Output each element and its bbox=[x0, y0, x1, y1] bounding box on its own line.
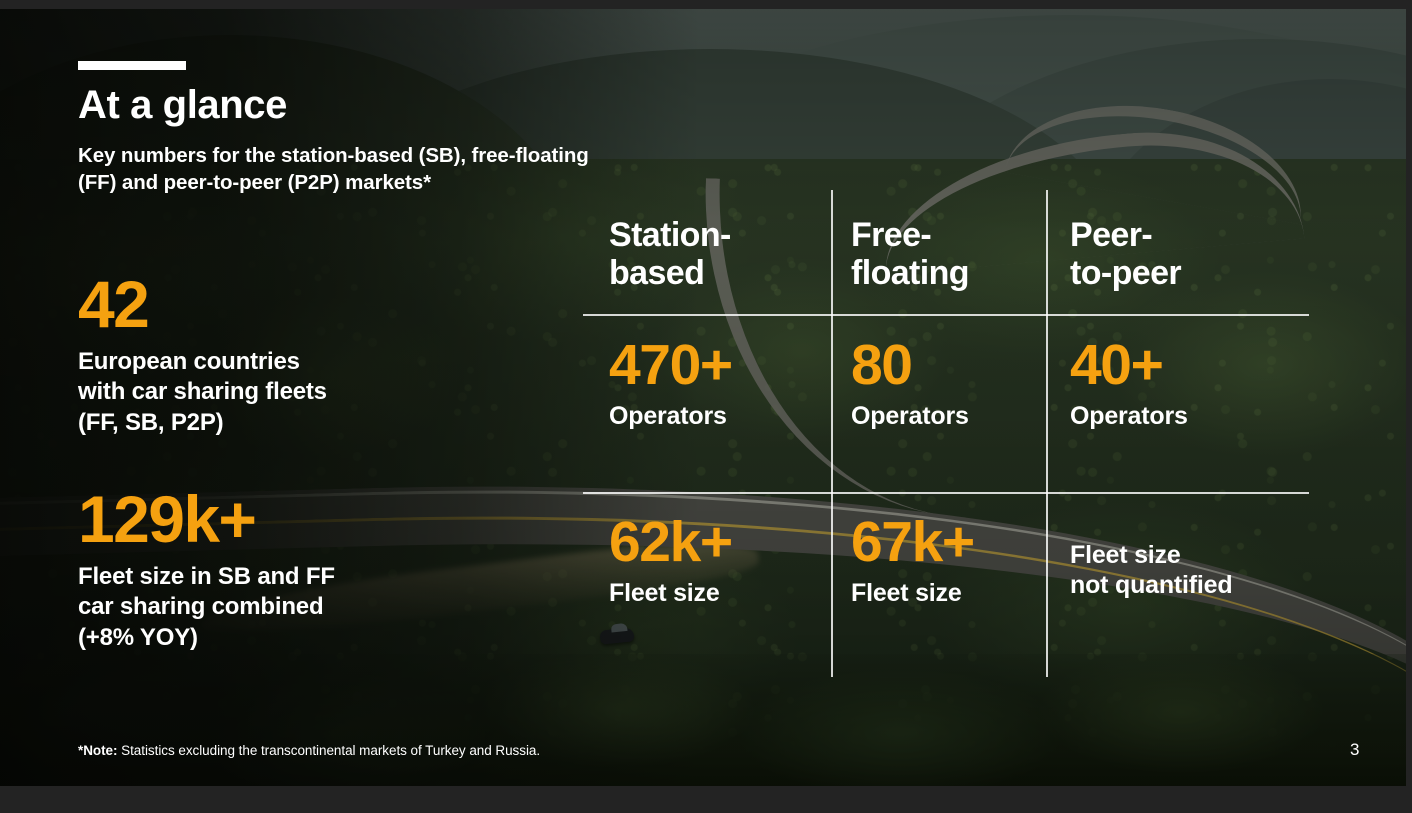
highlight-description: Fleet size in SB and FFcar sharing combi… bbox=[78, 562, 335, 653]
matrix-cell-label: Operators bbox=[1070, 401, 1188, 431]
matrix-cell-fleet-free-floating: 67k+ Fleet size bbox=[851, 515, 974, 608]
slide-content: At a glance Key numbers for the station-… bbox=[0, 0, 1412, 813]
matrix-cell-label: Fleet size bbox=[609, 578, 732, 608]
matrix-cell-operators-peer-to-peer: 40+ Operators bbox=[1070, 338, 1188, 431]
matrix-cell-label: Operators bbox=[609, 401, 732, 431]
matrix-cell-label: Fleet size bbox=[851, 578, 974, 608]
matrix-cell-value: 67k+ bbox=[851, 515, 974, 570]
matrix-column-header-peer-to-peer: Peer-to-peer bbox=[1070, 216, 1181, 292]
matrix-cell-fleet-station-based: 62k+ Fleet size bbox=[609, 515, 732, 608]
highlight-description: European countrieswith car sharing fleet… bbox=[78, 347, 327, 438]
footnote-label: *Note: bbox=[78, 743, 117, 758]
matrix-cell-value: 62k+ bbox=[609, 515, 732, 570]
matrix-divider-horizontal bbox=[583, 314, 1309, 316]
matrix-divider-vertical bbox=[831, 190, 833, 677]
highlight-value: 129k+ bbox=[78, 487, 335, 552]
matrix-cell-fleet-peer-to-peer: Fleet sizenot quantified bbox=[1070, 540, 1232, 600]
highlight-stat-countries: 42 European countrieswith car sharing fl… bbox=[78, 272, 327, 438]
matrix-divider-horizontal bbox=[583, 492, 1309, 494]
matrix-divider-vertical bbox=[1046, 190, 1048, 677]
footnote: *Note: Statistics excluding the transcon… bbox=[78, 743, 540, 758]
right-letterbox-bar bbox=[1406, 0, 1412, 813]
highlight-stat-fleet: 129k+ Fleet size in SB and FFcar sharing… bbox=[78, 487, 335, 653]
page-subtitle: Key numbers for the station-based (SB), … bbox=[78, 142, 598, 196]
title-accent-bar bbox=[78, 61, 186, 70]
matrix-column-header-station-based: Station-based bbox=[609, 216, 731, 292]
matrix-cell-value: 80 bbox=[851, 338, 969, 393]
slide-canvas: At a glance Key numbers for the station-… bbox=[0, 0, 1412, 813]
market-matrix: Station-based Free-floating Peer-to-peer… bbox=[583, 190, 1309, 677]
matrix-cell-label: Fleet sizenot quantified bbox=[1070, 540, 1232, 600]
page-title: At a glance bbox=[78, 84, 287, 126]
matrix-column-header-free-floating: Free-floating bbox=[851, 216, 969, 292]
page-number: 3 bbox=[1350, 740, 1359, 760]
matrix-cell-label: Operators bbox=[851, 401, 969, 431]
matrix-cell-operators-station-based: 470+ Operators bbox=[609, 338, 732, 431]
matrix-cell-value: 470+ bbox=[609, 338, 732, 393]
matrix-cell-operators-free-floating: 80 Operators bbox=[851, 338, 969, 431]
footnote-text: Statistics excluding the transcontinenta… bbox=[117, 743, 540, 758]
matrix-cell-value: 40+ bbox=[1070, 338, 1188, 393]
highlight-value: 42 bbox=[78, 272, 327, 337]
